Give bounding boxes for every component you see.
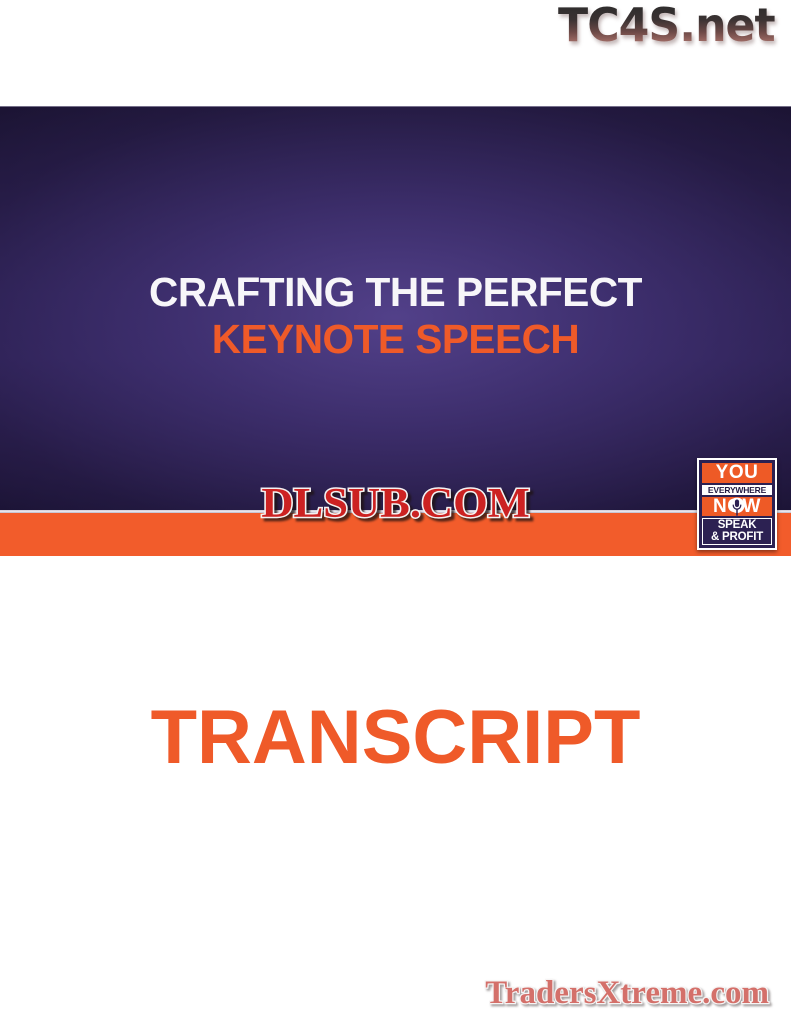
- slide-title-line-2: KEYNOTE SPEECH: [4, 319, 787, 360]
- slide-orange-band: [0, 513, 791, 556]
- logo-profit-text: & PROFIT: [711, 532, 763, 544]
- tradersxtreme-watermark: TradersXtreme.com: [485, 975, 769, 1012]
- slide-title: CRAFTING THE PERFECT KEYNOTE SPEECH: [0, 272, 791, 360]
- tc4s-watermark: TC4S.net: [558, 2, 775, 48]
- logo-you-text: YOU: [702, 463, 772, 483]
- slide-top-edge: [0, 106, 791, 107]
- podcast-microphone-icon: [729, 497, 746, 516]
- page-title: TRANSCRIPT: [0, 700, 791, 776]
- logo-everywhere-text: EVERYWHERE: [702, 485, 772, 496]
- logo-speak-profit-block: SPEAK & PROFIT: [702, 518, 772, 545]
- logo-now-row: NOW: [702, 497, 772, 516]
- logo-speak-text: SPEAK: [718, 520, 757, 532]
- top-watermark-bar: TC4S.net: [0, 0, 791, 106]
- slide-cover-image: CRAFTING THE PERFECT KEYNOTE SPEECH DLSU…: [0, 106, 791, 556]
- slide-title-line-1: CRAFTING THE PERFECT: [4, 272, 787, 313]
- you-everywhere-now-logo: YOU EVERYWHERE NOW SPEAK & PROFIT: [697, 458, 777, 550]
